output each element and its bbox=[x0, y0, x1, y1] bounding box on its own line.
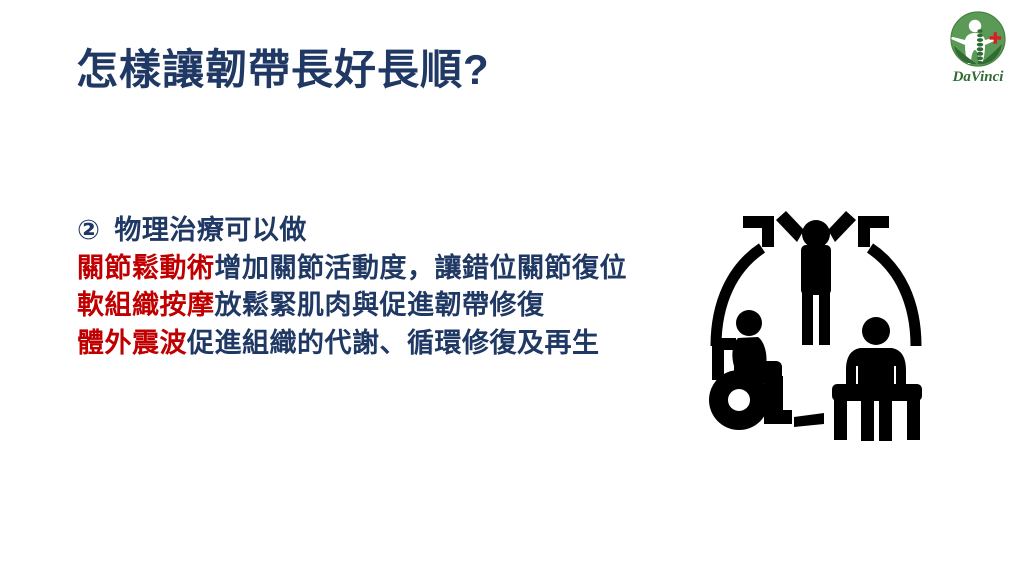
body-text-block: ②物理治療可以做 關節鬆動術增加關節活動度，讓錯位關節復位 軟組織按摩放鬆緊肌肉… bbox=[77, 212, 627, 362]
bottom-arrow-dash-icon bbox=[794, 413, 824, 427]
seated-on-bench-figure-icon bbox=[832, 317, 922, 441]
body-line-1-text: 物理治療可以做 bbox=[114, 215, 307, 245]
list-marker-2: ② bbox=[77, 215, 100, 245]
logo-wordmark: DaVinci bbox=[952, 69, 1005, 85]
body-line-2-text: 增加關節活動度，讓錯位關節復位 bbox=[215, 253, 628, 283]
highlight-shockwave-therapy: 體外震波 bbox=[77, 328, 187, 358]
highlight-joint-mobilization: 關節鬆動術 bbox=[77, 253, 215, 283]
slide-canvas: 怎樣讓韌帶長好長順? ②物理治療可以做 關節鬆動術增加關節活動度，讓錯位關節復位… bbox=[0, 0, 1024, 576]
rehabilitation-cycle-illustration bbox=[694, 198, 938, 444]
page-title: 怎樣讓韌帶長好長順? bbox=[76, 46, 490, 94]
body-line-3: 軟組織按摩放鬆緊肌肉與促進韌帶修復 bbox=[77, 287, 627, 325]
body-line-4: 體外震波促進組織的代謝、循環修復及再生 bbox=[77, 325, 627, 363]
highlight-soft-tissue-massage: 軟組織按摩 bbox=[77, 290, 215, 320]
body-line-3-text: 放鬆緊肌肉與促進韌帶修復 bbox=[215, 290, 545, 320]
body-line-4-text: 促進組織的代謝、循環修復及再生 bbox=[187, 328, 600, 358]
standing-arms-raised-figure-icon bbox=[776, 211, 856, 345]
davinci-logo: DaVinci bbox=[940, 6, 1016, 86]
body-line-2: 關節鬆動術增加關節活動度，讓錯位關節復位 bbox=[77, 250, 627, 288]
body-line-1: ②物理治療可以做 bbox=[77, 212, 627, 250]
